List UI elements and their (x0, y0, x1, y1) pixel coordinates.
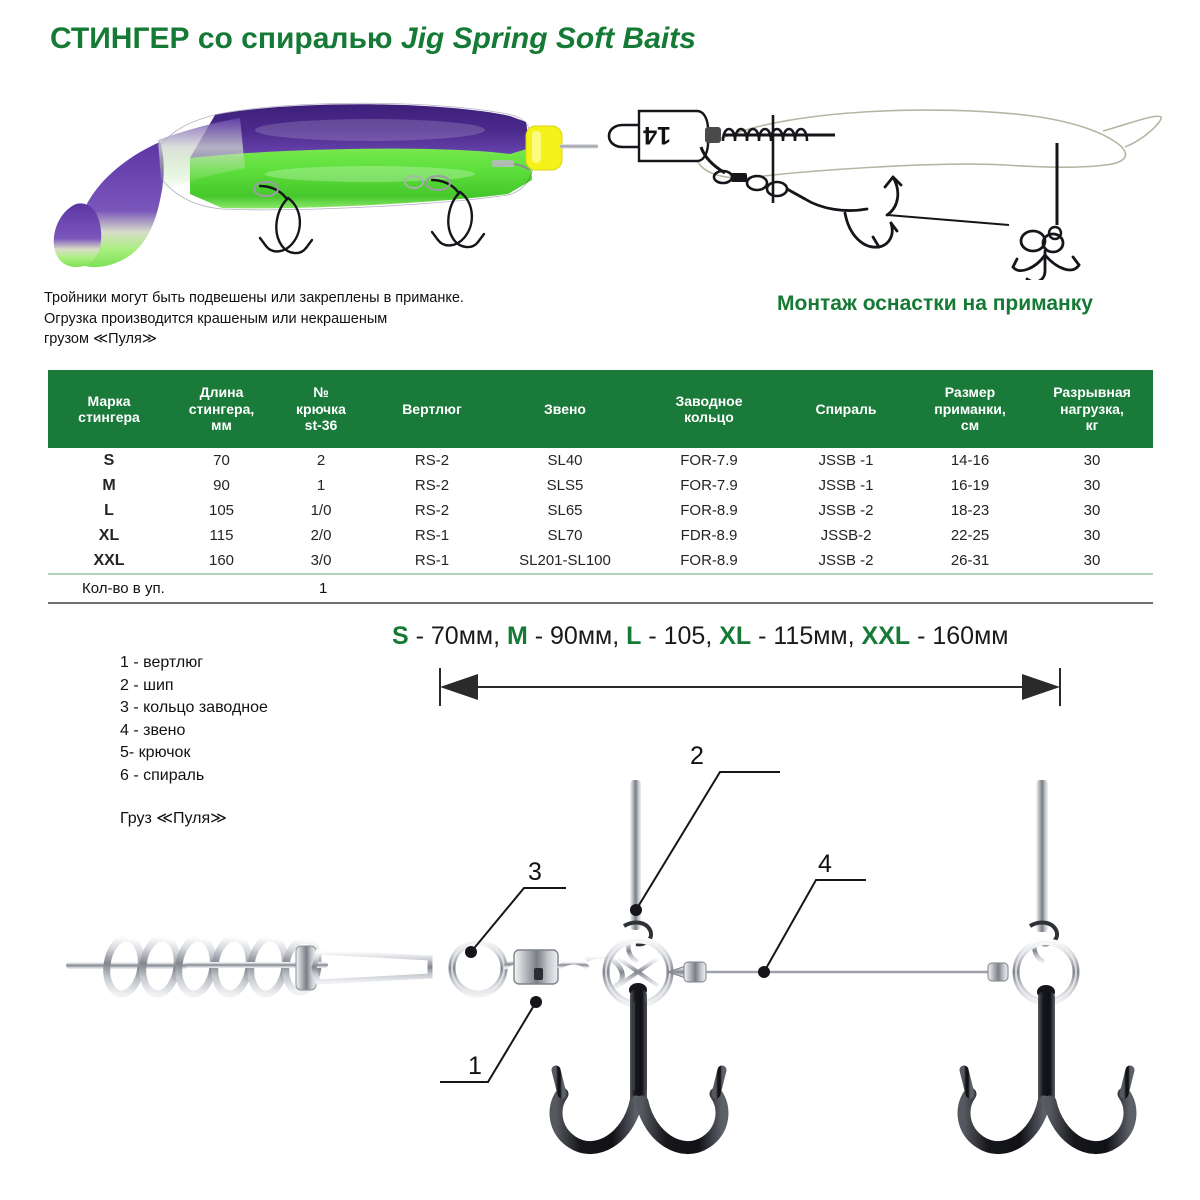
hook-point-left (556, 1070, 562, 1094)
cell-bait: 18-23 (909, 498, 1031, 523)
cell-swivel: RS-2 (369, 498, 495, 523)
cell-load: 30 (1031, 473, 1153, 498)
rear-split-ring-outline (1021, 231, 1045, 251)
corkscrew-spiral-assembly (66, 936, 430, 996)
cell-ring: FDR-8.9 (635, 523, 783, 548)
callout-1-leader (440, 1002, 536, 1082)
cell-spiral: JSSB -1 (783, 473, 909, 498)
cell-brand: M (48, 473, 170, 498)
th-length: Длинастингера,мм (170, 370, 273, 448)
note-line-2: Огрузка производится крашеным или некраш… (44, 309, 584, 330)
soft-bait-lure-photo (40, 82, 600, 272)
size-val-m: - 90мм, (528, 622, 626, 650)
cell-bait: 14-16 (909, 448, 1031, 473)
cell-swivel: RS-2 (369, 448, 495, 473)
cell-length: 115 (170, 523, 273, 548)
th-brand: Маркастингера (48, 370, 170, 448)
qty-value: 1 (273, 574, 1153, 603)
cell-hook: 3/0 (273, 548, 369, 574)
table-body: S702RS-2SL40FOR-7.9JSSB -114-1630M901RS-… (48, 448, 1153, 574)
specifications-table: Маркастингера Длинастингера,мм №крючкаst… (48, 370, 1153, 604)
callout-2: 2 (630, 742, 780, 916)
link-crimp-left (684, 962, 706, 982)
bullet-weight-number: 14 (643, 121, 671, 149)
treble-hook-outline-rear (1013, 251, 1079, 280)
size-code-m: M (507, 622, 528, 650)
size-val-xxl: - 160мм (910, 622, 1008, 650)
callout-4-label: 4 (818, 850, 832, 878)
treble-hook-center (556, 990, 722, 1166)
table-row: M901RS-2SLS5FOR-7.9JSSB -116-1930 (48, 473, 1153, 498)
size-code-xxl: XXL (862, 622, 911, 650)
cell-hook: 1/0 (273, 498, 369, 523)
cell-link: SL70 (495, 523, 635, 548)
callout-2-leader (636, 772, 780, 910)
th-hook: №крючкаst-36 (273, 370, 369, 448)
page-title-brand: Jig Spring Soft Baits (401, 22, 696, 55)
callout-1: 1 (440, 996, 542, 1082)
table-qty-row: Кол-во в уп. 1 (48, 574, 1153, 603)
swivel-right-eye (558, 962, 588, 968)
cell-spiral: JSSB -2 (783, 498, 909, 523)
rig-mount-outline-diagram: 14 (605, 85, 1165, 280)
leader-to-rear-hook (887, 215, 1009, 225)
callout-3-label: 3 (528, 858, 542, 886)
cell-swivel: RS-2 (369, 473, 495, 498)
cell-swivel: RS-1 (369, 548, 495, 574)
th-bait: Размерприманки,см (909, 370, 1031, 448)
stinger-rig-diagram: 3 1 2 4 (0, 650, 1200, 1200)
length-dimension-arrow (440, 668, 1060, 706)
cell-link: SL65 (495, 498, 635, 523)
size-code-xl: XL (719, 622, 751, 650)
cell-load: 30 (1031, 498, 1153, 523)
spike-rod-right (1036, 780, 1048, 932)
cell-length: 70 (170, 448, 273, 473)
size-val-s: - 70мм, (409, 622, 507, 650)
size-code-l: L (626, 622, 641, 650)
weight-eye-loop (609, 125, 639, 147)
cell-hook: 2 (273, 448, 369, 473)
cell-spiral: JSSB-2 (783, 523, 909, 548)
size-val-xl: - 115мм, (751, 622, 861, 650)
lure-highlight (255, 119, 485, 141)
cell-load: 30 (1031, 448, 1153, 473)
cell-link: SL40 (495, 448, 635, 473)
mount-section-title: Монтаж оснастки на приманку (777, 292, 1177, 316)
hook-point-right-right (1124, 1070, 1130, 1094)
split-ring-outline-2 (767, 182, 787, 196)
size-code-s: S (392, 622, 409, 650)
size-val-l: - 105, (641, 622, 719, 650)
cell-load: 30 (1031, 548, 1153, 574)
cell-length: 160 (170, 548, 273, 574)
hook-bend-left (556, 1094, 636, 1148)
leader-link-assembly (668, 962, 1008, 982)
table-row: XXL1603/0RS-1SL201-SL100FOR-8.9JSSB -226… (48, 548, 1153, 574)
bullet-weight-highlight (532, 131, 541, 163)
cell-length: 90 (170, 473, 273, 498)
link-outline-1 (787, 189, 805, 199)
bullet-weight-yellow (526, 126, 562, 170)
spiral-shaft (66, 962, 188, 969)
cell-bait: 16-19 (909, 473, 1031, 498)
hook-shank-right (1038, 992, 1055, 1108)
clasp-wire-arms (314, 952, 430, 982)
table-header-row: Маркастингера Длинастингера,мм №крючкаst… (48, 370, 1153, 448)
cell-length: 105 (170, 498, 273, 523)
bait-silhouette-outline (697, 110, 1126, 178)
cell-bait: 26-31 (909, 548, 1031, 574)
head-sleeve (492, 160, 514, 167)
note-line-1: Тройники могут быть подвешены или закреп… (44, 288, 584, 309)
note-line-3: грузом ≪Пуля≫ (44, 329, 584, 350)
th-ring: Заводноекольцо (635, 370, 783, 448)
th-spiral: Спираль (783, 370, 909, 448)
cell-ring: FOR-7.9 (635, 473, 783, 498)
table-row: XL1152/0RS-1SL70FDR-8.9JSSB-222-2530 (48, 523, 1153, 548)
treble-hook-outline-front (805, 177, 901, 247)
cell-brand: XXL (48, 548, 170, 574)
split-ring-3-highlight (452, 942, 504, 994)
spiral-collar (705, 127, 721, 143)
page-title-main: СТИНГЕР со спиралью (50, 22, 401, 55)
cell-spiral: JSSB -2 (783, 548, 909, 574)
link-crimp-right (988, 963, 1008, 981)
cell-ring: FOR-8.9 (635, 498, 783, 523)
qty-label: Кол-во в уп. (48, 574, 273, 603)
lure-highlight-belly (265, 166, 475, 182)
callout-2-label: 2 (690, 742, 704, 770)
hook-shank-center (630, 990, 647, 1108)
cell-link: SLS5 (495, 473, 635, 498)
lure-notes: Тройники могут быть подвешены или закреп… (44, 288, 584, 350)
head-wire-pin (560, 144, 598, 149)
hook-point-right (716, 1070, 722, 1094)
split-ring-outline-1 (747, 176, 767, 190)
cell-ring: FOR-8.9 (635, 548, 783, 574)
page-title: СТИНГЕР со спиралью Jig Spring Soft Bait… (50, 22, 1150, 64)
cell-ring: FOR-7.9 (635, 448, 783, 473)
cell-brand: S (48, 448, 170, 473)
cell-swivel: RS-1 (369, 523, 495, 548)
table-row: S702RS-2SL40FOR-7.9JSSB -114-1630 (48, 448, 1153, 473)
cell-spiral: JSSB -1 (783, 448, 909, 473)
cell-bait: 22-25 (909, 523, 1031, 548)
cell-hook: 1 (273, 473, 369, 498)
callout-4: 4 (758, 850, 866, 978)
swivel-barrel-detail (534, 968, 543, 980)
hook-bend-right-right (1050, 1094, 1130, 1148)
hook-point-right-left (964, 1070, 970, 1094)
lure-tail-paddle (54, 203, 101, 267)
cell-brand: XL (48, 523, 170, 548)
cell-brand: L (48, 498, 170, 523)
th-load: Разрывнаянагрузка,кг (1031, 370, 1153, 448)
callout-1-label: 1 (468, 1052, 482, 1080)
cell-load: 30 (1031, 523, 1153, 548)
cell-link: SL201-SL100 (495, 548, 635, 574)
cell-hook: 2/0 (273, 523, 369, 548)
th-swivel: Вертлюг (369, 370, 495, 448)
callout-4-leader (764, 880, 866, 972)
hook-bend-right (642, 1094, 722, 1148)
swivel-body-outline (731, 173, 747, 182)
th-link: Звено (495, 370, 635, 448)
hook-bend-right-left (964, 1094, 1044, 1148)
table-row: L1051/0RS-2SL65FOR-8.9JSSB -218-2330 (48, 498, 1153, 523)
